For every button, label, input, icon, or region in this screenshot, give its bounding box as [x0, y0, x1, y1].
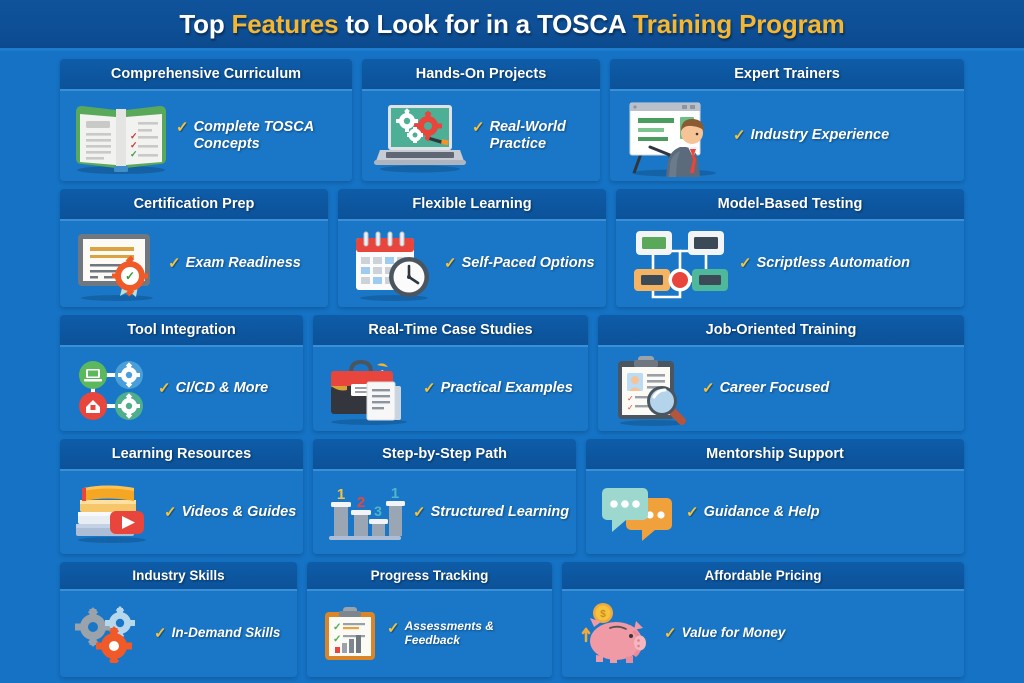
card-title: Mentorship Support	[586, 439, 964, 471]
card-title: Hands-On Projects	[362, 59, 600, 91]
svg-text:✓: ✓	[627, 394, 634, 403]
svg-text:✓: ✓	[125, 269, 135, 283]
card-row-1: Comprehensive Curriculum	[60, 59, 964, 181]
briefcase-documents-icon	[325, 352, 417, 426]
card-benefit: ✓ Videos & Guides	[164, 504, 297, 521]
certificate-ribbon-icon: ✓	[72, 226, 162, 302]
check-icon: ✓	[733, 127, 746, 144]
check-icon: ✓	[664, 625, 677, 642]
card-certification-prep[interactable]: Certification Prep	[60, 189, 328, 307]
card-benefit: ✓ Guidance & Help	[686, 504, 958, 521]
piggy-bank-icon: $	[574, 603, 658, 665]
trainer-whiteboard-icon	[622, 95, 727, 177]
svg-text:1: 1	[337, 486, 345, 503]
card-body: ✓ Videos & Guides	[60, 471, 303, 554]
card-benefit: ✓ In-Demand Skills	[154, 625, 291, 642]
card-body: ✓ Scriptless Automation	[616, 221, 964, 307]
card-real-time-case-studies[interactable]: Real-Time Case Studies	[313, 315, 588, 431]
connected-nodes-icon	[72, 354, 152, 424]
benefit-label: Structured Learning	[431, 504, 570, 521]
gears-icon	[72, 605, 148, 663]
card-title: Model-Based Testing	[616, 189, 964, 221]
svg-text:$: $	[600, 609, 606, 620]
card-body: ✓ ✓ ✓ Assessme	[307, 591, 552, 677]
title-highlight-features: Features	[232, 9, 339, 39]
card-model-based-testing[interactable]: Model-Based Testing	[616, 189, 964, 307]
card-body: ✓ CI/CD & More	[60, 347, 303, 431]
card-body: ✓ ✓ Exam Readiness	[60, 221, 328, 307]
title-part-2: to Look for in a TOSCA	[338, 9, 632, 39]
check-icon: ✓	[423, 380, 436, 397]
card-body: ✓ ✓ ✓ Ca	[598, 347, 964, 431]
card-benefit: ✓ Practical Examples	[423, 380, 582, 397]
card-benefit: ✓ Assessments & Feedback	[387, 620, 546, 648]
card-benefit: ✓ CI/CD & More	[158, 380, 297, 397]
check-icon: ✓	[739, 255, 752, 272]
card-progress-tracking[interactable]: Progress Tracking ✓ ✓	[307, 562, 552, 677]
card-title: Learning Resources	[60, 439, 303, 471]
check-icon: ✓	[472, 119, 485, 136]
card-body: ✓ ✓ ✓ ✓ Complete TOSCA Concepts	[60, 91, 352, 181]
benefit-label: Assessments & Feedback	[405, 620, 546, 648]
card-benefit: ✓ Complete TOSCA Concepts	[176, 119, 346, 152]
svg-text:✓: ✓	[333, 634, 341, 645]
benefit-label: Scriptless Automation	[757, 255, 910, 272]
numbered-podium-icon: 1 2 3 1	[325, 482, 407, 544]
title-part-1: Top	[179, 9, 231, 39]
card-title: Job-Oriented Training	[598, 315, 964, 347]
page-title: Top Features to Look for in a TOSCA Trai…	[179, 9, 844, 40]
card-hands-on-projects[interactable]: Hands-On Projects	[362, 59, 600, 181]
check-icon: ✓	[154, 625, 167, 642]
benefit-label: Complete TOSCA Concepts	[194, 119, 346, 152]
card-title: Comprehensive Curriculum	[60, 59, 352, 91]
check-icon: ✓	[702, 380, 715, 397]
card-title: Industry Skills	[60, 562, 297, 591]
card-benefit: ✓ Real-World Practice	[472, 119, 594, 152]
check-icon: ✓	[176, 119, 189, 136]
svg-text:3: 3	[374, 503, 382, 519]
svg-text:2: 2	[357, 494, 365, 511]
svg-text:✓: ✓	[627, 403, 634, 412]
card-benefit: ✓ Self-Paced Options	[444, 255, 600, 272]
card-tool-integration[interactable]: Tool Integration	[60, 315, 303, 431]
card-title: Expert Trainers	[610, 59, 964, 91]
title-highlight-training-program: Training Program	[633, 9, 845, 39]
benefit-label: Exam Readiness	[186, 255, 301, 272]
card-title: Real-Time Case Studies	[313, 315, 588, 347]
resume-magnifier-icon: ✓ ✓	[610, 351, 696, 427]
card-expert-trainers[interactable]: Expert Trainers	[610, 59, 964, 181]
card-body: ✓ Guidance & Help	[586, 471, 964, 554]
svg-text:✓: ✓	[130, 149, 138, 159]
check-icon: ✓	[686, 504, 699, 521]
card-flexible-learning[interactable]: Flexible Learning	[338, 189, 606, 307]
speech-bubbles-icon	[598, 482, 680, 544]
card-mentorship-support[interactable]: Mentorship Support	[586, 439, 964, 554]
benefit-label: CI/CD & More	[176, 380, 269, 397]
card-body: ✓ Industry Experience	[610, 91, 964, 181]
card-benefit: ✓ Scriptless Automation	[739, 255, 958, 272]
open-book-icon: ✓ ✓ ✓	[72, 96, 170, 176]
card-benefit: ✓ Exam Readiness	[168, 255, 322, 272]
card-affordable-pricing[interactable]: Affordable Pricing $	[562, 562, 964, 677]
card-title: Step-by-Step Path	[313, 439, 576, 471]
benefit-label: In-Demand Skills	[172, 625, 281, 641]
card-title: Progress Tracking	[307, 562, 552, 591]
benefit-label: Career Focused	[720, 380, 830, 397]
card-benefit: ✓ Career Focused	[702, 380, 958, 397]
card-body: $	[562, 591, 964, 677]
card-benefit: ✓ Value for Money	[664, 625, 958, 642]
card-title: Flexible Learning	[338, 189, 606, 221]
check-icon: ✓	[164, 504, 177, 521]
card-title: Affordable Pricing	[562, 562, 964, 591]
card-row-2: Certification Prep	[60, 189, 964, 307]
svg-text:1: 1	[391, 485, 399, 502]
card-body: ✓ Practical Examples	[313, 347, 588, 431]
card-row-3: Tool Integration	[60, 315, 964, 431]
feature-card-grid: Comprehensive Curriculum	[0, 51, 1024, 683]
card-body: ✓ In-Demand Skills	[60, 591, 297, 677]
card-body: 1 2 3 1 ✓ Structured Learning	[313, 471, 576, 554]
card-title: Certification Prep	[60, 189, 328, 221]
card-row-5: Industry Skills	[60, 562, 964, 677]
benefit-label: Practical Examples	[441, 380, 573, 397]
card-title: Tool Integration	[60, 315, 303, 347]
card-industry-skills[interactable]: Industry Skills	[60, 562, 297, 677]
card-row-4: Learning Resources	[60, 439, 964, 554]
page-title-bar: Top Features to Look for in a TOSCA Trai…	[0, 0, 1024, 51]
benefit-label: Guidance & Help	[704, 504, 820, 521]
card-job-oriented-training[interactable]: Job-Oriented Training	[598, 315, 964, 431]
benefit-label: Real-World Practice	[490, 119, 594, 152]
card-benefit: ✓ Industry Experience	[733, 127, 958, 144]
card-step-by-step-path[interactable]: Step-by-Step Path	[313, 439, 576, 554]
card-comprehensive-curriculum[interactable]: Comprehensive Curriculum	[60, 59, 352, 181]
clipboard-chart-icon: ✓ ✓	[319, 605, 381, 663]
card-body: ✓ Self-Paced Options	[338, 221, 606, 307]
flowchart-icon	[628, 225, 733, 303]
books-play-icon	[72, 482, 158, 544]
laptop-gears-icon	[374, 97, 466, 175]
benefit-label: Value for Money	[682, 625, 786, 641]
check-icon: ✓	[413, 504, 426, 521]
benefit-label: Self-Paced Options	[462, 255, 595, 272]
benefit-label: Industry Experience	[751, 127, 890, 144]
card-learning-resources[interactable]: Learning Resources	[60, 439, 303, 554]
card-benefit: ✓ Structured Learning	[413, 504, 570, 521]
check-icon: ✓	[387, 620, 400, 637]
card-body: ✓ Real-World Practice	[362, 91, 600, 181]
check-icon: ✓	[444, 255, 457, 272]
benefit-label: Videos & Guides	[182, 504, 297, 521]
check-icon: ✓	[168, 255, 181, 272]
calendar-clock-icon	[350, 226, 438, 302]
svg-text:✓: ✓	[333, 622, 341, 633]
check-icon: ✓	[158, 380, 171, 397]
